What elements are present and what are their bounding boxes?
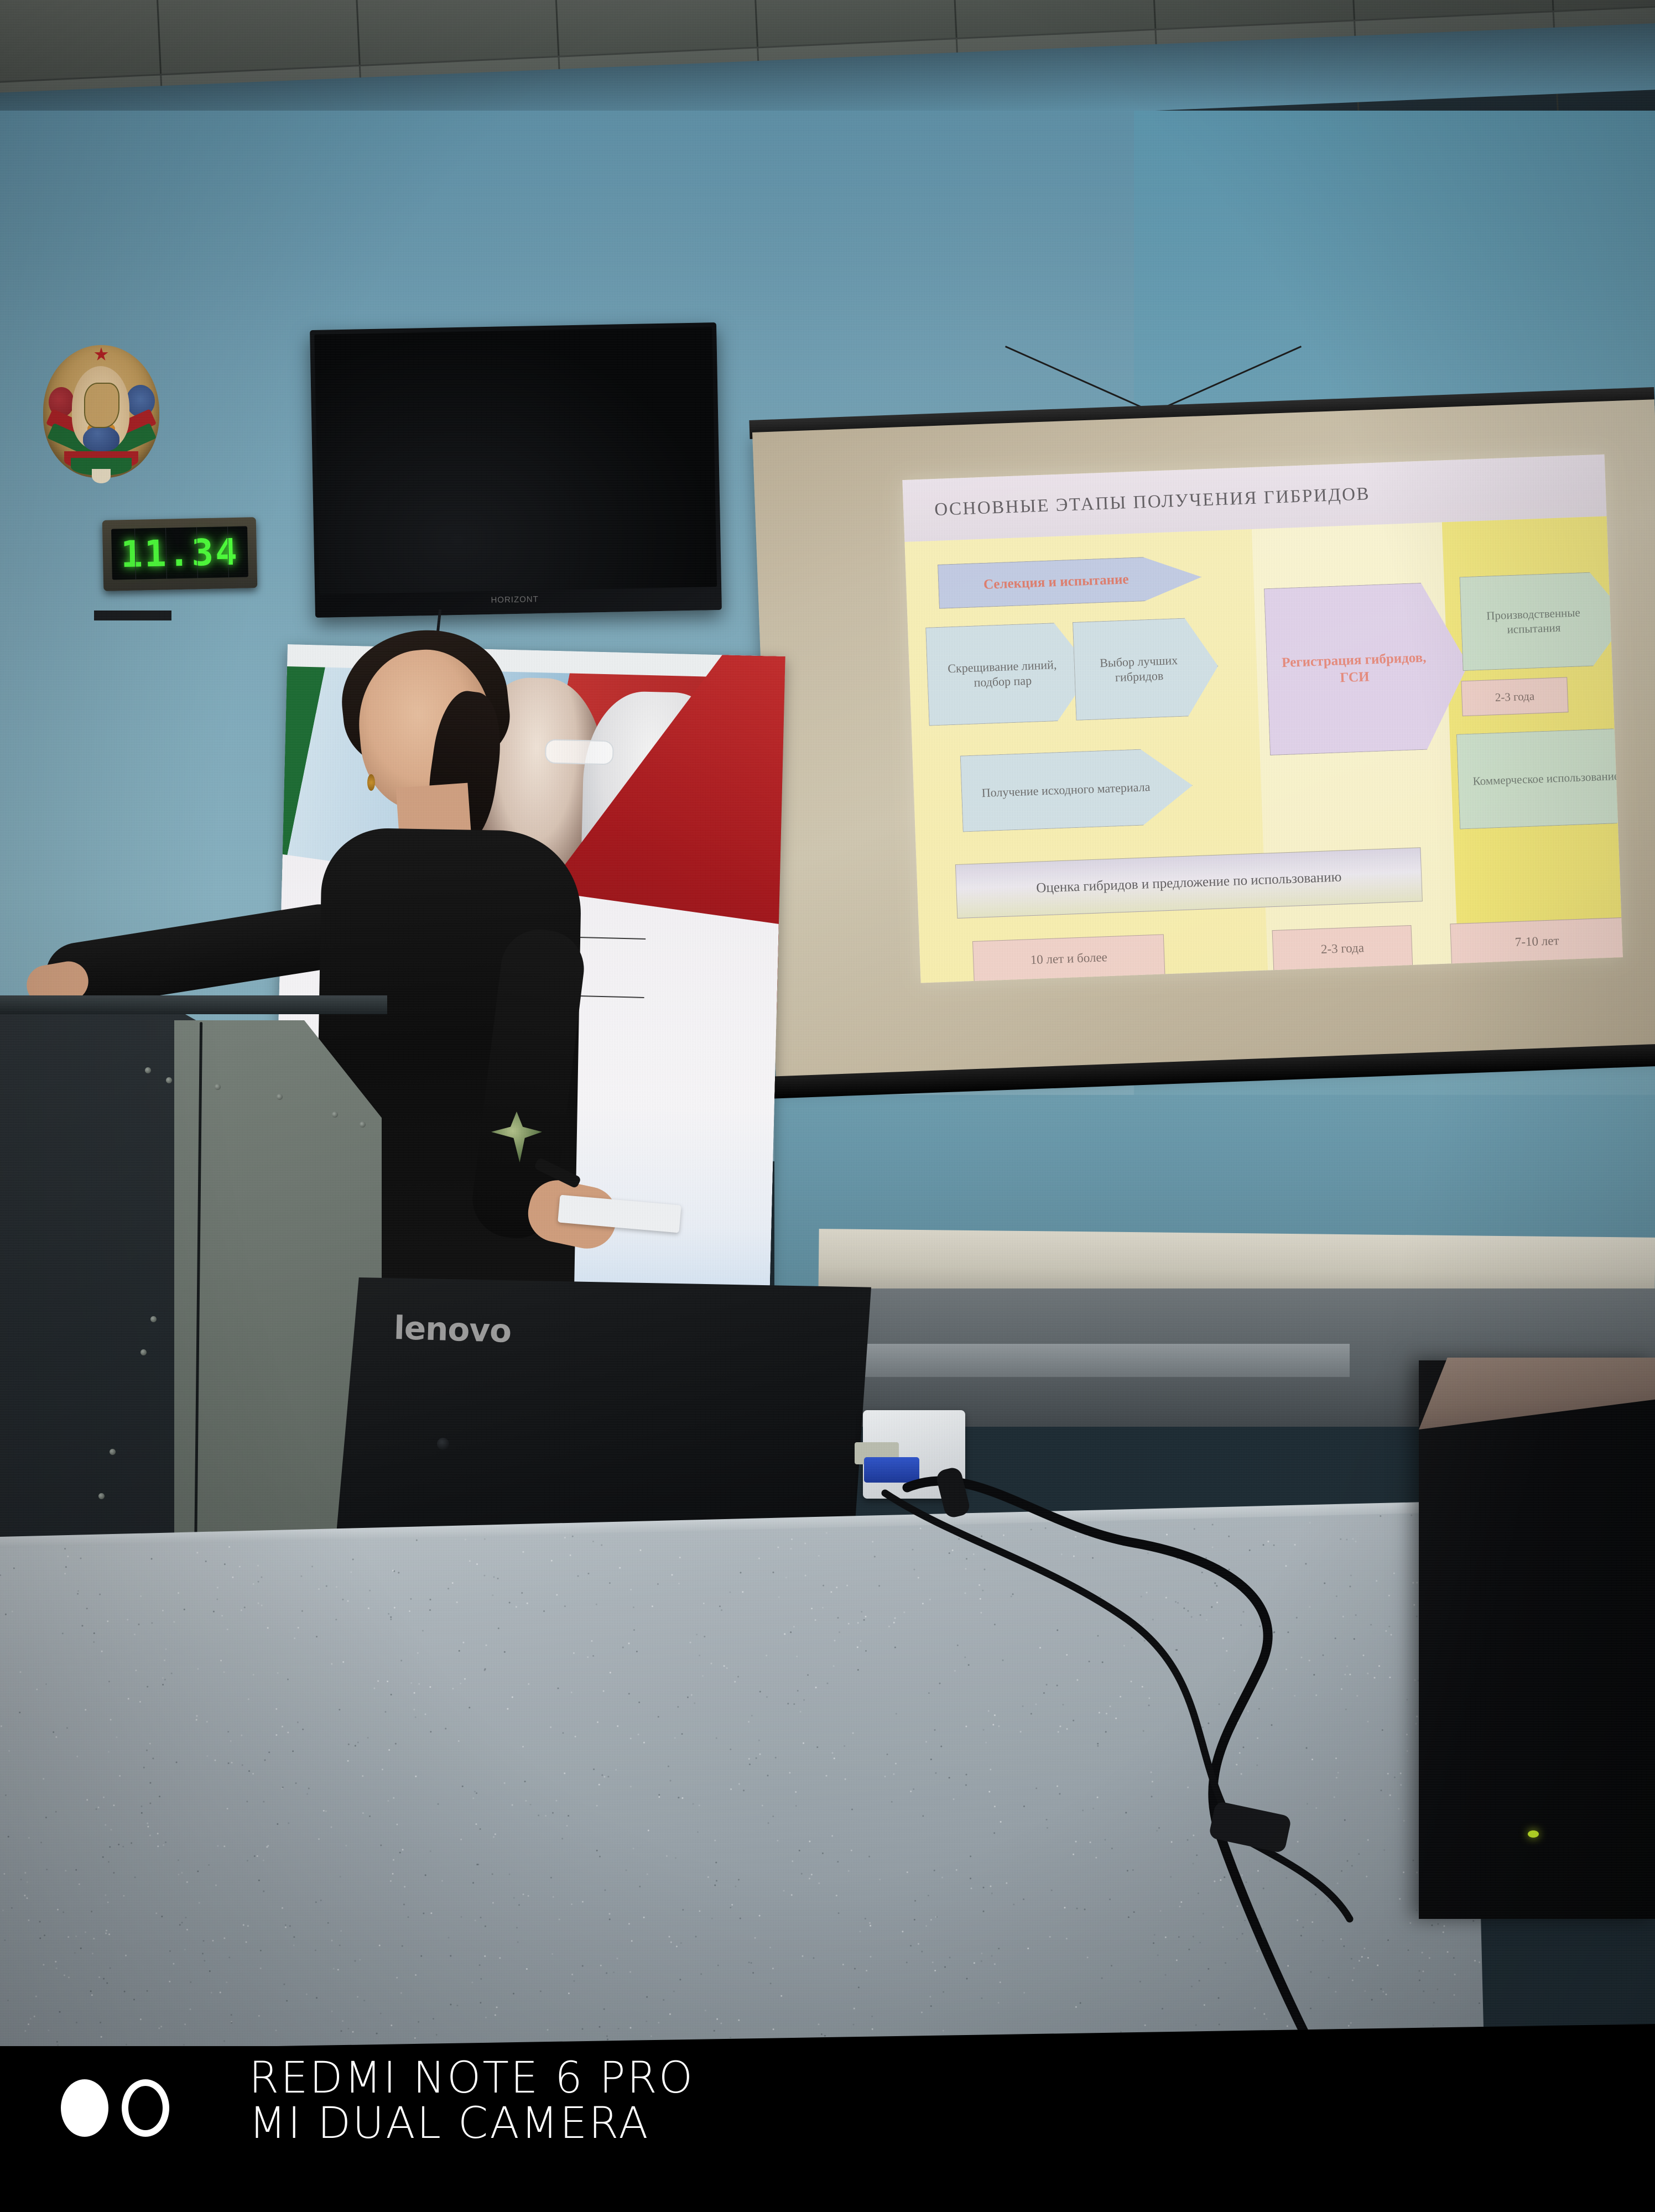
desk-speckle: [352, 1558, 354, 1560]
desk-speckle: [1084, 1908, 1085, 1910]
podium-screw: [332, 1112, 338, 1118]
desk-speckle: [1387, 1939, 1389, 1941]
desk-speckle: [952, 1532, 954, 1534]
desk-speckle: [264, 1759, 266, 1761]
desk-speckle: [1142, 1686, 1143, 1687]
ceiling-tile: [155, 0, 361, 75]
desk-speckle: [1454, 1994, 1455, 1996]
desk-speckle: [1315, 1807, 1317, 1809]
desk-speckle: [930, 1919, 932, 1921]
desk-speckle: [790, 1632, 792, 1634]
desk-speckle: [657, 1583, 659, 1585]
desk-speckle: [163, 1844, 164, 1846]
desk-speckle: [1415, 1910, 1417, 1911]
desk-speckle: [1373, 1677, 1375, 1679]
desk-speckle: [301, 1610, 303, 1611]
desk-speckle: [199, 1902, 200, 1903]
desk-speckle: [56, 1968, 58, 1969]
desk-speckle: [429, 1609, 431, 1611]
desk-speckle: [851, 1850, 852, 1851]
desk-speckle: [1082, 1809, 1084, 1811]
desk-speckle: [165, 1841, 166, 1843]
desk-speckle: [91, 1994, 93, 1996]
desk-speckle: [391, 2025, 393, 2026]
desk-speckle: [282, 1787, 283, 1789]
desk-speckle: [393, 1859, 394, 1861]
desk-speckle: [1412, 1860, 1414, 1861]
desk-speckle: [257, 1564, 259, 1566]
desk-speckle: [716, 1880, 717, 1881]
desk-speckle: [793, 1703, 795, 1705]
desk-speckle: [631, 1940, 633, 1942]
desk-speckle: [469, 1707, 470, 1708]
desk-speckle: [471, 1981, 473, 1983]
desk-speckle: [570, 1692, 572, 1693]
desk-speckle: [230, 1740, 232, 1742]
desk-speckle: [1045, 1527, 1047, 1529]
desk-speckle: [109, 1846, 111, 1848]
desk-speckle: [399, 1851, 401, 1853]
desk-speckle: [125, 1955, 127, 1957]
desk-speckle: [675, 1946, 677, 1948]
desk-speckle: [243, 1924, 244, 1926]
desk-speckle: [293, 1944, 294, 1946]
desk-speckle: [1002, 1660, 1003, 1661]
desk-speckle: [1199, 1942, 1201, 1943]
desk-speckle: [1194, 1528, 1195, 1530]
desk-speckle: [738, 2020, 740, 2021]
desk-speckle: [750, 1962, 752, 1964]
desk-speckle: [59, 2011, 61, 2013]
desk-speckle: [1177, 1602, 1179, 1604]
desk-speckle: [1336, 1595, 1337, 1597]
desk-speckle: [998, 1948, 1000, 1949]
desk-speckle: [842, 1964, 844, 1965]
presenter-earring: [367, 774, 375, 791]
desk-speckle: [787, 1703, 789, 1704]
ceiling-tile: [0, 0, 162, 85]
desk-speckle: [43, 1778, 44, 1780]
desk-speckle: [158, 2027, 160, 2029]
desk-speckle: [681, 1797, 683, 1799]
desk-speckle: [223, 1671, 225, 1673]
desk-speckle: [452, 1688, 454, 1689]
desk-speckle: [731, 1903, 733, 1905]
desk-speckle: [954, 1670, 956, 1672]
desk-speckle: [1242, 1611, 1244, 1613]
desk-speckle: [1350, 2022, 1352, 2023]
desk-speckle: [972, 1553, 974, 1555]
desk-speckle: [169, 1950, 171, 1952]
desk-speckle: [1031, 1713, 1032, 1715]
desk-speckle: [1414, 1679, 1415, 1681]
desk-speckle: [162, 1677, 164, 1679]
desk-speckle: [495, 1834, 496, 1835]
desk-speckle: [91, 1911, 92, 1912]
desk-speckle: [244, 1606, 246, 1608]
desk-speckle: [815, 1687, 817, 1688]
desk-speckle: [1061, 1553, 1063, 1555]
desk-speckle: [415, 1974, 417, 1975]
desk-speckle: [66, 1727, 68, 1729]
desk-speckle: [1202, 1913, 1204, 1914]
desk-speckle: [1381, 1729, 1383, 1731]
desk-speckle: [648, 1830, 649, 1832]
desk-speckle: [600, 1965, 602, 1966]
desk-speckle: [1345, 1908, 1346, 1910]
desk-speckle: [640, 1550, 642, 1551]
desk-speckle: [127, 1619, 129, 1620]
desk-speckle: [863, 1619, 865, 1621]
desk-speckle: [677, 1706, 679, 1708]
desk-speckle: [593, 1768, 595, 1770]
desk-speckle: [424, 1714, 426, 1715]
desk-speckle: [874, 1556, 876, 1557]
desk-speckle: [606, 1972, 607, 1974]
desk-speckle: [248, 1770, 250, 1772]
desk-speckle: [417, 1652, 419, 1654]
desk-speckle: [178, 1874, 179, 1875]
desk-speckle: [1088, 1661, 1090, 1662]
desk-speckle: [479, 1828, 481, 1830]
desk-speckle: [184, 1949, 186, 1950]
desk-speckle: [678, 1583, 680, 1584]
desk-speckle: [891, 1801, 893, 1802]
desk-speckle: [48, 2030, 49, 2031]
desk-speckle: [456, 2005, 458, 2006]
desk-speckle: [913, 1788, 914, 1790]
desk-speckle: [871, 2028, 873, 2030]
desk-speckle: [647, 1996, 648, 1998]
desk-speckle: [1287, 1965, 1289, 1966]
desk-speckle: [858, 1986, 860, 1988]
desk-speckle: [149, 1803, 151, 1804]
desk-speckle: [1062, 1704, 1064, 1705]
desk-speckle: [387, 1681, 388, 1682]
desk-speckle: [409, 1610, 410, 1612]
desk-speckle: [1154, 1934, 1156, 1936]
desk-speckle: [5, 1794, 7, 1796]
desk-speckle: [380, 2012, 382, 2014]
desk-speckle: [1394, 1776, 1396, 1778]
desk-speckle: [1419, 1979, 1420, 1981]
desk-speckle: [1269, 1860, 1271, 1861]
desk-speckle: [1345, 1708, 1346, 1710]
desk-speckle: [785, 1577, 787, 1578]
desk-speckle: [513, 1993, 514, 1995]
podium-screw: [98, 1493, 105, 1499]
desk-speckle: [944, 1966, 946, 1968]
desk-speckle: [342, 1661, 344, 1663]
desk-speckle: [308, 1788, 310, 1790]
desk-speckle: [1351, 1958, 1352, 1960]
desk-speckle: [1234, 1581, 1236, 1583]
desk-speckle: [1208, 1968, 1209, 1969]
desk-speckle: [282, 1907, 283, 1909]
desk-speckle: [1240, 1624, 1242, 1626]
desk-speckle: [1240, 1773, 1242, 1775]
desk-speckle: [196, 1715, 198, 1717]
desk-speckle: [643, 1742, 645, 1744]
desk-speckle: [415, 1775, 417, 1777]
desk-speckle: [44, 1934, 45, 1936]
desk-speckle: [223, 2041, 225, 2042]
desk-speckle: [75, 1936, 77, 1937]
desk-speckle: [217, 1845, 218, 1846]
mi-dual-camera-icon: [61, 2079, 169, 2137]
desk-speckle: [1066, 1654, 1068, 1656]
desk-speckle: [1120, 1696, 1121, 1698]
desk-speckle: [1242, 1933, 1243, 1934]
desk-speckle: [1376, 1580, 1377, 1582]
desk-speckle: [1294, 1695, 1295, 1697]
desk-speckle: [39, 1921, 41, 1922]
desk-speckle: [949, 1957, 950, 1958]
desk-speckle: [1192, 1936, 1194, 1937]
desk-speckle: [1097, 1635, 1099, 1637]
desk-speckle: [1156, 1830, 1158, 1832]
desk-speckle: [181, 1922, 183, 1923]
desk-speckle: [907, 1871, 908, 1873]
desk-speckle: [336, 1586, 337, 1588]
desk-speckle: [617, 1725, 618, 1726]
desk-speckle: [671, 1574, 673, 1575]
desk-speckle: [1059, 1793, 1061, 1794]
desk-speckle: [256, 1855, 258, 1857]
desk-speckle: [260, 1967, 262, 1969]
desk-speckle: [1337, 1772, 1339, 1773]
desk-speckle: [461, 1786, 463, 1787]
desk-speckle: [628, 1923, 630, 1924]
desk-speckle: [1335, 1757, 1337, 1759]
desk-speckle: [418, 1683, 420, 1685]
desk-speckle: [673, 1990, 675, 1992]
desk-speckle: [516, 1927, 518, 1929]
desk-speckle: [149, 1782, 151, 1783]
desk-speckle: [1389, 1625, 1391, 1627]
desk-speckle: [711, 1663, 712, 1665]
desk-speckle: [331, 2010, 332, 2012]
desk-speckle: [1354, 1638, 1355, 1640]
desk-speckle: [402, 1849, 404, 1851]
desk-speckle: [90, 1990, 91, 1992]
desk-speckle: [1272, 1687, 1273, 1689]
desk-speckle: [1151, 1796, 1153, 1797]
desk-speckle: [368, 1608, 369, 1609]
desk-speckle: [1066, 1728, 1068, 1730]
desk-speckle: [955, 1869, 957, 1870]
desk-speckle: [557, 1688, 559, 1689]
ribbon-knot: [92, 469, 111, 483]
desk-speckle: [762, 1804, 763, 1806]
desk-speckle: [670, 1942, 672, 1943]
desk-speckle: [347, 1760, 348, 1762]
desk-speckle: [335, 1619, 337, 1620]
desk-speckle: [1410, 1922, 1412, 1924]
desk-speckle: [987, 1710, 989, 1712]
desk-speckle: [43, 1964, 44, 1965]
desk-speckle: [844, 1745, 845, 1747]
desk-speckle: [752, 1972, 754, 1974]
desk-speckle: [879, 1879, 881, 1881]
desk-speckle: [521, 1592, 523, 1594]
desk-speckle: [1076, 1679, 1078, 1681]
desk-speckle: [981, 1611, 982, 1613]
desk-speckle: [1008, 1555, 1009, 1557]
desk-speckle: [1315, 1893, 1316, 1895]
desk-speckle: [267, 1627, 268, 1629]
podium-screw: [166, 1077, 172, 1083]
desk-speckle: [604, 1776, 606, 1777]
desk-speckle: [149, 1743, 151, 1745]
desk-speckle: [929, 1599, 930, 1600]
desk-speckle: [809, 1877, 810, 1879]
desk-speckle: [275, 2030, 277, 2031]
desk-speckle: [460, 1839, 462, 1840]
desk-speckle: [831, 1835, 833, 1837]
desk-speckle: [105, 1932, 107, 1934]
speaker-power-led-indicator: [1528, 1830, 1539, 1838]
desk-speckle: [914, 1900, 916, 1901]
desk-speckle: [415, 1717, 417, 1718]
desk-speckle: [592, 1541, 594, 1542]
desk-speckle: [1205, 1557, 1207, 1559]
desk-speckle: [914, 1918, 915, 1920]
desk-speckle: [2, 1910, 4, 1911]
desk-speckle: [1340, 1938, 1342, 1940]
desk-speckle: [493, 1576, 495, 1578]
desk-speckle: [943, 2030, 944, 2032]
desk-speckle: [131, 1842, 132, 1844]
desk-speckle: [1241, 1874, 1243, 1876]
desk-speckle: [209, 1970, 211, 1972]
desk-speckle: [1200, 1614, 1201, 1616]
desk-speckle: [1444, 1925, 1445, 1927]
desk-speckle: [228, 1546, 230, 1548]
desk-speckle: [1097, 1743, 1099, 1744]
desk-speckle: [628, 1643, 629, 1645]
desk-speckle: [1309, 1522, 1311, 1524]
desk-speckle: [1285, 1565, 1287, 1567]
desk-speckle: [479, 1964, 481, 1966]
desk-speckle: [789, 1772, 790, 1773]
desk-speckle: [569, 1554, 571, 1556]
desk-speckle: [666, 1855, 668, 1857]
desk-speckle: [341, 2030, 342, 2032]
desk-speckle: [1073, 1720, 1074, 1721]
desk-speckle: [1064, 1907, 1065, 1909]
desk-speckle: [571, 1536, 573, 1537]
desk-speckle: [387, 1800, 389, 1802]
desk-speckle: [438, 1803, 439, 1805]
desk-speckle: [616, 1958, 618, 1959]
desk-speckle: [126, 2044, 127, 2046]
desk-speckle: [631, 1589, 632, 1590]
desk-speckle: [861, 1611, 863, 1613]
desk-speckle: [1327, 1900, 1329, 1902]
desk-speckle: [1335, 1991, 1336, 1992]
desk-speckle: [998, 1725, 1000, 1727]
desk-speckle: [973, 1962, 975, 1964]
desk-speckle: [870, 1956, 871, 1958]
desk-speckle: [511, 1804, 513, 1806]
desk-speckle: [1217, 1997, 1219, 1999]
desk-speckle: [797, 1690, 799, 1692]
desk-speckle: [636, 1651, 638, 1652]
desk-speckle: [613, 1971, 615, 1973]
desk-speckle: [1146, 1592, 1148, 1594]
desk-speckle: [517, 1941, 519, 1943]
desk-speckle: [77, 1590, 79, 1592]
desk-speckle: [476, 1792, 478, 1794]
desk-speckle: [289, 1926, 291, 1927]
desk-speckle: [1288, 1631, 1289, 1633]
desk-speckle: [223, 1563, 225, 1565]
watermark-device-name: REDMI NOTE 6 PRO: [249, 2056, 694, 2101]
desk-speckle: [19, 1712, 20, 1714]
desk-speckle: [1406, 1699, 1408, 1700]
desk-speckle: [1073, 1555, 1074, 1557]
desk-speckle: [993, 1832, 995, 1834]
desk-speckle: [1160, 1910, 1162, 1912]
desk-speckle: [759, 1691, 761, 1692]
podium-screw: [140, 1349, 147, 1355]
desk-speckle: [711, 1917, 713, 1919]
desk-speckle: [832, 1752, 834, 1754]
desk-speckle: [165, 1648, 167, 1650]
desk-speckle: [852, 1733, 854, 1734]
desk-speckle: [608, 1582, 610, 1584]
desk-speckle: [1220, 1879, 1221, 1881]
desk-speckle: [150, 1558, 152, 1559]
desk-speckle: [1188, 1948, 1190, 1950]
desk-speckle: [325, 1585, 327, 1587]
desk-speckle: [143, 1767, 144, 1768]
desk-speckle: [499, 1957, 501, 1959]
desk-speckle: [65, 1573, 66, 1574]
desk-speckle: [214, 1760, 216, 1761]
desk-speckle: [253, 1855, 255, 1857]
desk-speckle: [646, 2020, 647, 2022]
desk-speckle: [957, 1644, 959, 1646]
desk-speckle: [723, 1666, 725, 1667]
desk-speckle: [699, 1655, 700, 1656]
desk-speckle: [173, 1621, 175, 1623]
desk-speckle: [1035, 1788, 1037, 1790]
desk-speckle: [730, 2037, 731, 2038]
desk-speckle: [388, 1749, 390, 1751]
desk-speckle: [27, 1897, 28, 1899]
safety-goggles-icon: [545, 739, 614, 765]
desk-speckle: [67, 1556, 69, 1557]
desk-speckle: [778, 1596, 779, 1598]
desk-speckle: [759, 1753, 761, 1755]
desk-speckle: [952, 1550, 954, 1551]
desk-speckle: [1097, 1745, 1099, 1746]
desk-speckle: [108, 1861, 110, 1863]
desk-speckle: [1300, 1935, 1302, 1937]
desk-speckle: [930, 1759, 931, 1760]
desk-speckle: [669, 2013, 671, 2015]
desk-speckle: [596, 1804, 597, 1806]
desk-speckle: [325, 1811, 327, 1812]
desk-speckle: [562, 1732, 564, 1734]
desk-speckle: [1003, 1534, 1005, 1536]
desk-speckle: [1472, 1920, 1474, 1922]
desk-speckle: [670, 1780, 672, 1781]
desk-speckle: [719, 1605, 721, 1607]
desk-speckle: [1211, 1569, 1213, 1571]
